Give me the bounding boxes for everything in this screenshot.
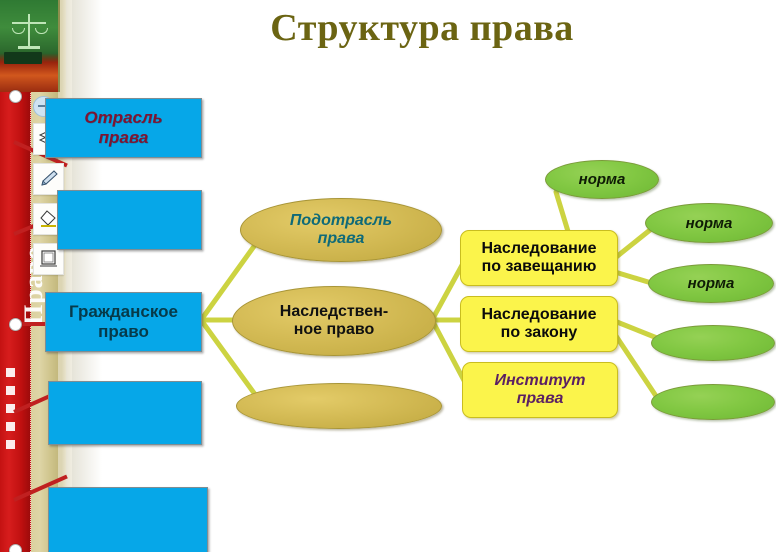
yellow-box-inheritance-by-will[interactable]: Наследование по завещанию [460, 230, 618, 286]
blue-box-civil-law[interactable]: Гражданское право [45, 292, 202, 352]
yellow-box-inheritance-by-law[interactable]: Наследование по закону [460, 296, 618, 352]
blue-box-2[interactable] [57, 190, 202, 250]
justice-photo [0, 0, 60, 92]
presentation-slide: Право [0, 0, 776, 552]
blue-box-civil-law-text: Гражданское право [69, 302, 178, 341]
selection-handle[interactable] [9, 318, 22, 331]
blue-box-4[interactable] [48, 381, 202, 445]
green-ellipse-norm-1[interactable]: норма [545, 160, 659, 199]
green-ellipse-empty-2[interactable] [651, 384, 775, 420]
gold-ellipse-subbranch-text: Подотрасль права [290, 212, 392, 249]
page-title: Структура права [222, 6, 622, 50]
blue-box-1-text: Отрасль права [84, 108, 162, 147]
green-ellipse-empty-1[interactable] [651, 325, 775, 361]
selection-handle[interactable] [9, 544, 22, 552]
blue-box-5[interactable] [48, 487, 208, 552]
gold-ellipse-inheritance-law[interactable]: Наследствен- ное право [232, 286, 436, 356]
gold-ellipse-empty[interactable] [236, 383, 442, 429]
gold-ellipse-inheritance-law-text: Наследствен- ное право [280, 303, 388, 340]
yellow-box-legal-institute[interactable]: Институт права [462, 362, 618, 418]
banner-dots [6, 368, 15, 498]
green-ellipse-norm-3[interactable]: норма [648, 264, 774, 303]
scales-icon [12, 10, 46, 50]
green-ellipse-norm-2[interactable]: норма [645, 203, 773, 243]
yellow-box-inheritance-by-will-text: Наследование по завещанию [481, 240, 596, 276]
gold-ellipse-subbranch[interactable]: Подотрасль права [240, 198, 442, 262]
blue-box-1[interactable]: Отрасль права [45, 98, 202, 158]
book-shape [4, 52, 42, 64]
yellow-box-legal-institute-text: Институт права [494, 372, 585, 408]
yellow-box-inheritance-by-law-text: Наследование по закону [481, 306, 596, 342]
selection-handle[interactable] [9, 90, 22, 103]
